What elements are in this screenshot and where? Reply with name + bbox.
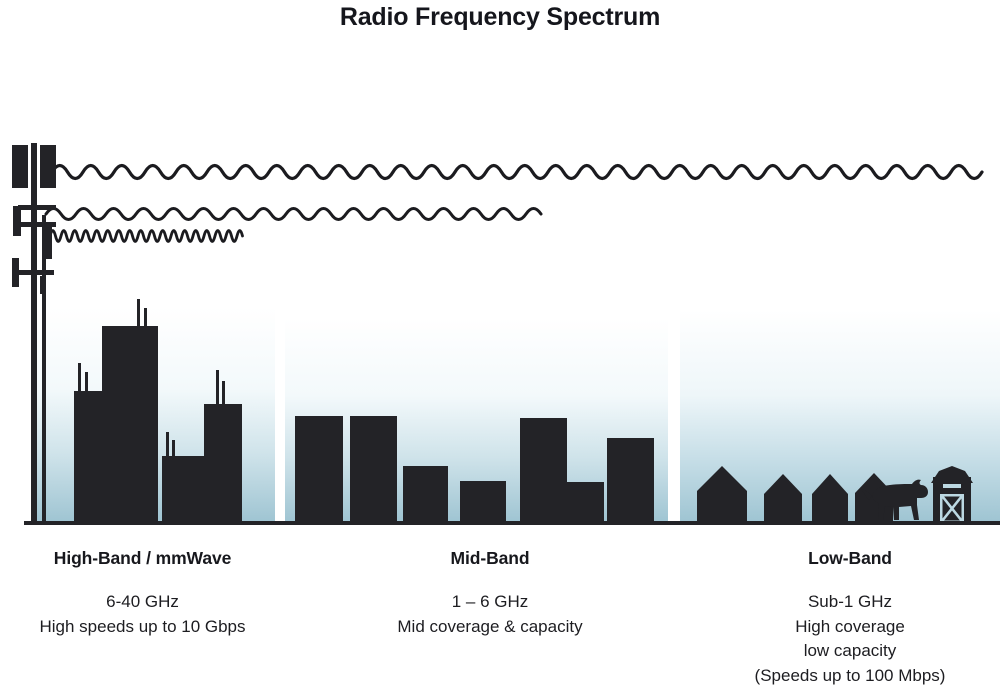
band-label-high-band: High-Band / mmWave 6-40 GHz High speeds … [0, 548, 285, 639]
building [403, 466, 448, 523]
tower-panel-antenna-right [40, 145, 56, 188]
building-antenna [172, 440, 175, 458]
building [102, 326, 158, 523]
building [567, 482, 604, 523]
band-description-line: (Speeds up to 100 Mbps) [700, 664, 1000, 689]
band-label-mid-band: Mid-Band 1 – 6 GHz Mid coverage & capaci… [345, 548, 635, 639]
low-frequency-wave [52, 166, 982, 179]
band-label-low-band: Low-Band Sub-1 GHz High coverage low cap… [700, 548, 1000, 688]
tower-small-antenna-left-lower [12, 258, 19, 287]
band-description-line: High coverage [700, 615, 1000, 640]
building [295, 416, 343, 523]
building [520, 418, 567, 523]
band-description-line: High speeds up to 10 Gbps [0, 615, 285, 640]
building-antenna [166, 432, 169, 457]
building [607, 438, 654, 523]
building [204, 404, 242, 523]
band-description-line: Sub-1 GHz [700, 590, 1000, 615]
radio-waves [46, 166, 982, 242]
tower-small-antenna-left-upper [13, 206, 21, 236]
ground-line [24, 521, 1000, 525]
tower-crossarm-upper [18, 205, 56, 210]
barn [931, 466, 973, 523]
band-description-line: 1 – 6 GHz [345, 590, 635, 615]
band-name: Mid-Band [345, 548, 635, 569]
band-name: Low-Band [700, 548, 1000, 569]
building-antenna [216, 370, 219, 406]
mid-frequency-wave [46, 209, 541, 220]
building-antenna [222, 381, 225, 407]
building-antenna [137, 299, 140, 327]
band-description-line: low capacity [700, 639, 1000, 664]
building-antenna [144, 308, 147, 328]
band-description-line: 6-40 GHz [0, 590, 285, 615]
tower-mast-foot [40, 276, 45, 294]
building [74, 391, 102, 523]
band-description-line: Mid coverage & capacity [345, 615, 635, 640]
building [162, 456, 204, 523]
tower-small-antenna-right-upper [44, 226, 52, 259]
diagram-stage: Radio Frequency Spectrum [0, 0, 1000, 700]
tower-mast-secondary [42, 215, 46, 523]
high-frequency-wave [50, 231, 243, 242]
tower-mast [31, 143, 37, 523]
tower-crossarm-lower [16, 270, 54, 275]
building [460, 481, 506, 523]
band-name: High-Band / mmWave [0, 548, 285, 569]
building [350, 416, 397, 523]
barn-loft-window [943, 484, 961, 488]
tower-panel-antenna-left [12, 145, 28, 188]
